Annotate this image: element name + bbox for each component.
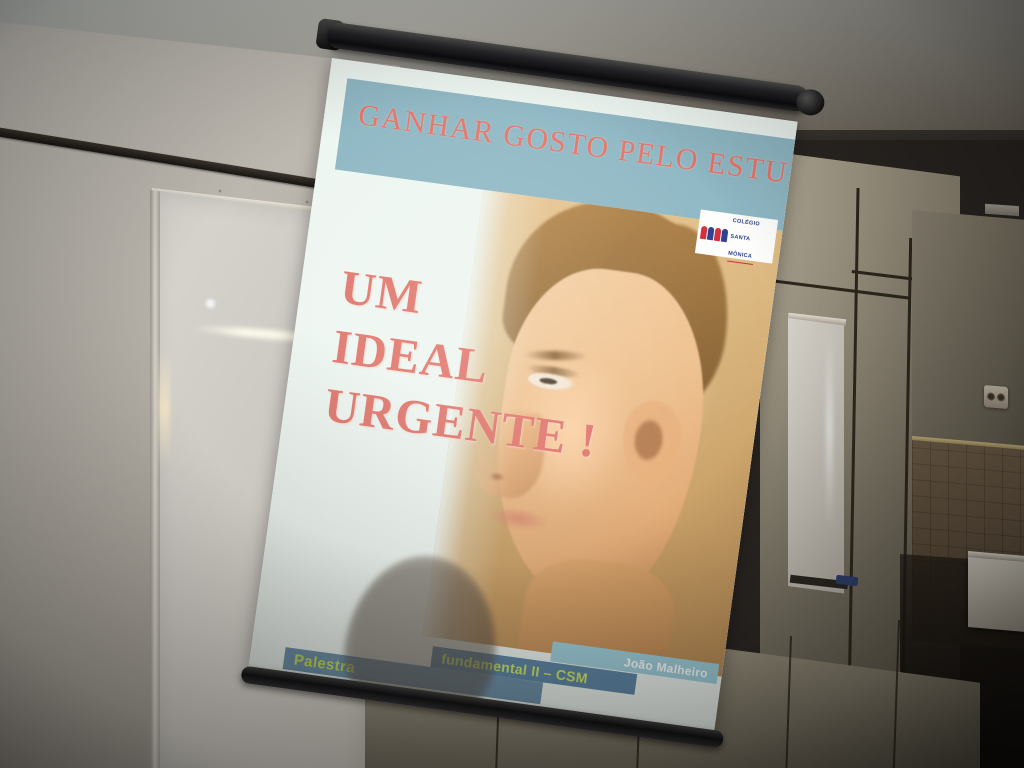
- ceiling-fixture: [985, 204, 1019, 216]
- secondary-whiteboard: [788, 318, 844, 593]
- whiteboard-light-dot: [204, 298, 217, 309]
- whiteboard-edge-glare: [158, 347, 170, 469]
- power-outlet[interactable]: [984, 385, 1008, 409]
- whiteboard-left-edge: [150, 190, 160, 768]
- screen-fabric: GANHAR GOSTO PELO ESTUDO: [248, 58, 798, 734]
- outlet-socket-right: [997, 393, 1005, 402]
- logo-line-2: SANTA MÔNICA: [728, 234, 753, 260]
- logo-text: COLÉGIO SANTA MÔNICA: [727, 210, 776, 268]
- whiteboard-screw-left: [218, 189, 222, 193]
- logo-line-1: COLÉGIO: [732, 217, 760, 227]
- secondary-whiteboard-glare: [826, 330, 833, 531]
- scene-root: GANHAR GOSTO PELO ESTUDO: [0, 0, 1024, 768]
- slide-headline: UM IDEAL URGENTE !: [321, 258, 617, 472]
- projection-screen[interactable]: GANHAR GOSTO PELO ESTUDO: [245, 58, 798, 756]
- outlet-socket-left: [987, 392, 995, 401]
- whiteboard-screw-right: [305, 200, 309, 204]
- presentation-slide: GANHAR GOSTO PELO ESTUDO: [248, 58, 798, 734]
- logo-mark-icon: [700, 225, 729, 242]
- white-appliance: [968, 557, 1024, 633]
